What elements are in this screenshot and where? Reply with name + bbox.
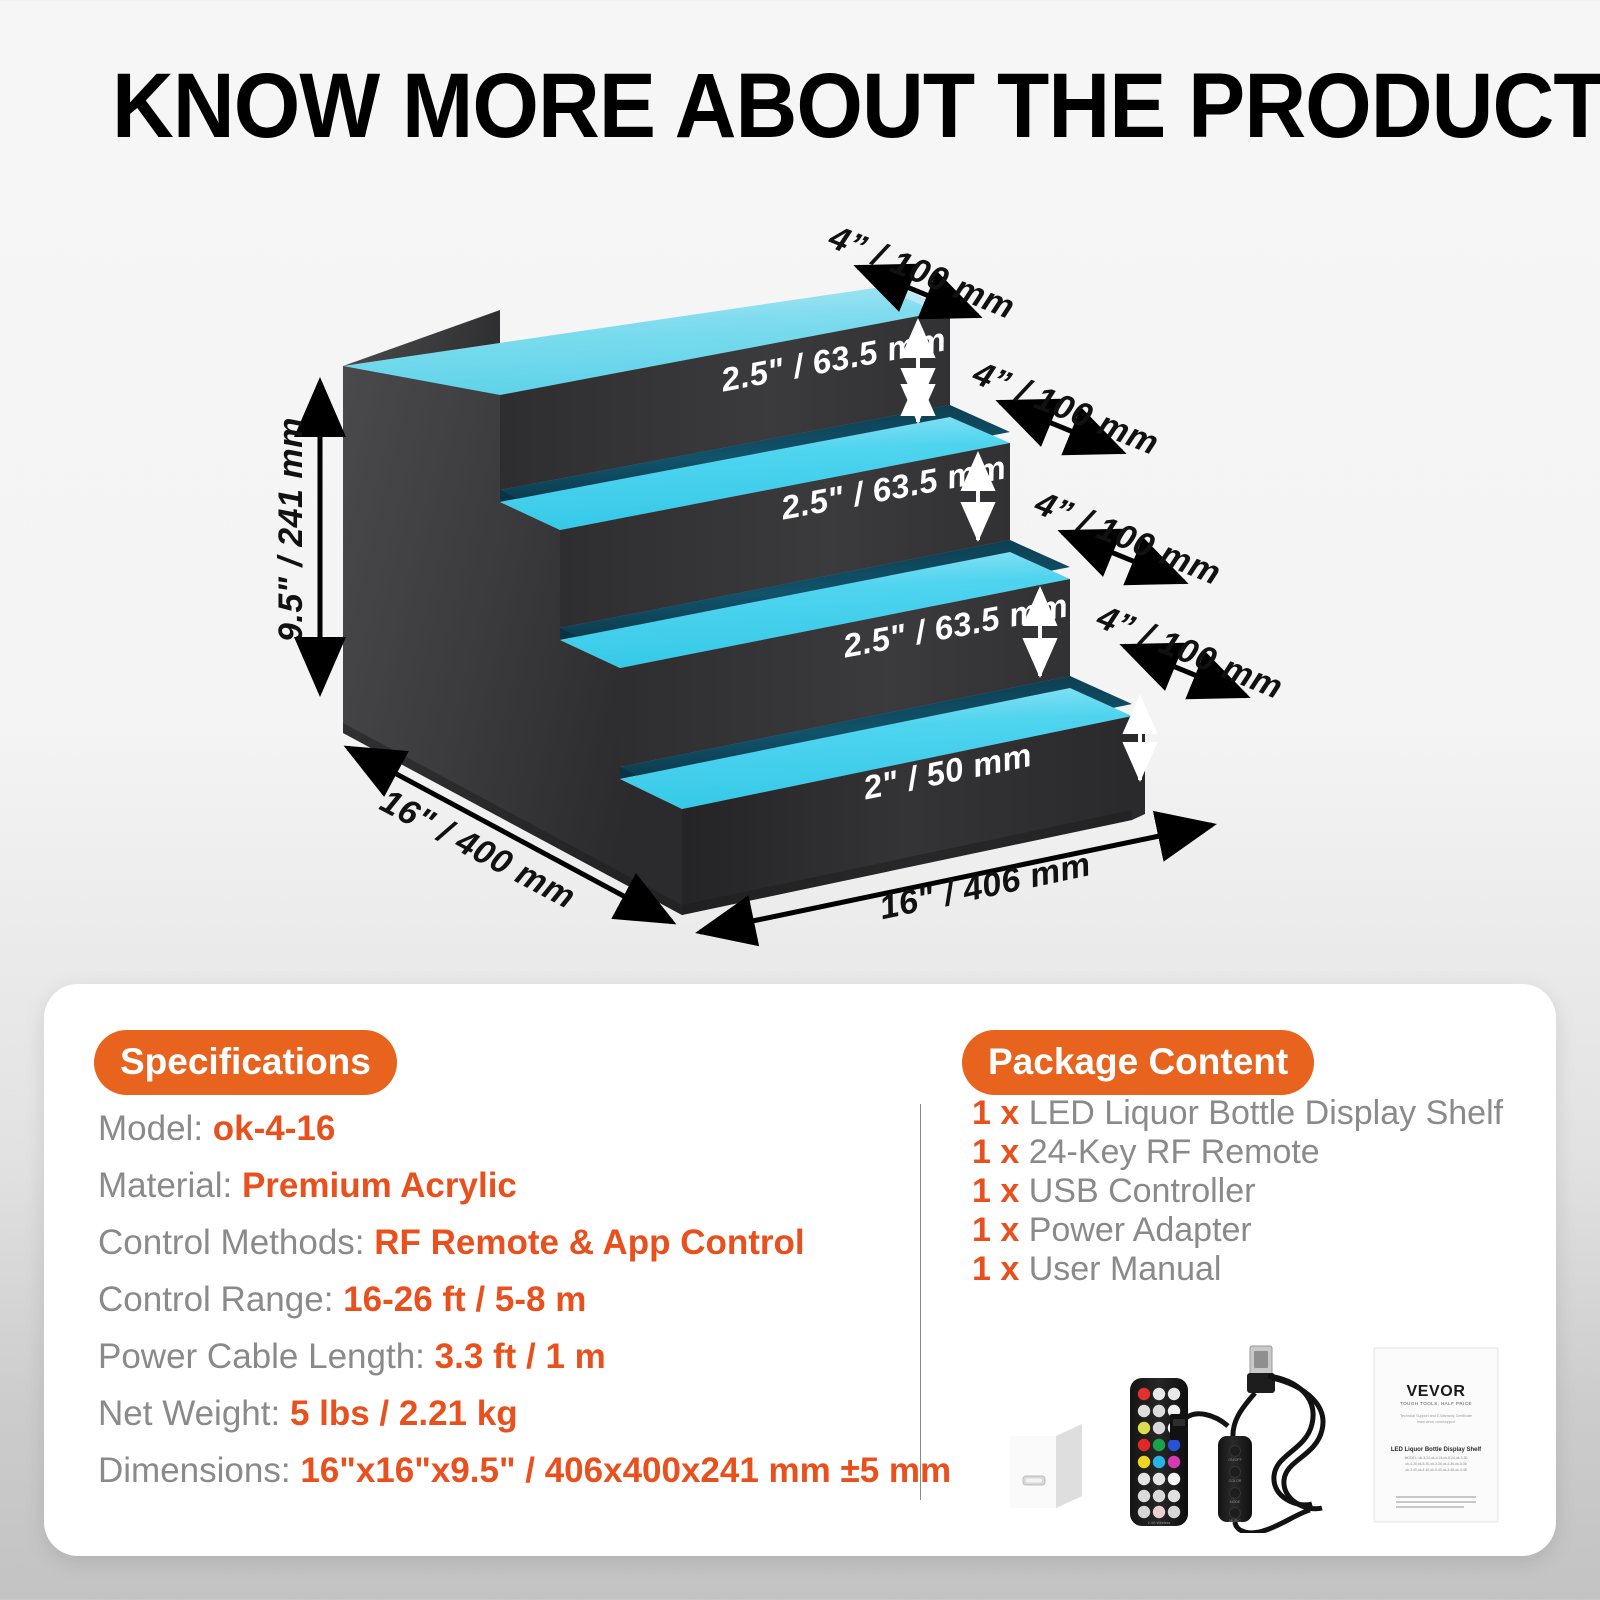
package-content-pill: Package Content [962,1030,1314,1095]
column-divider [920,1104,921,1500]
spec-row-net-weight: Net Weight: 5 lbs / 2.21 kg [98,1385,898,1442]
package-qty: 1 x [972,1250,1019,1288]
dimension-total-height: 9.5" / 241 mm [272,417,311,642]
svg-text:ON/OFF: ON/OFF [1228,1458,1242,1462]
svg-text:LED Liquor Bottle Display Shel: LED Liquor Bottle Display Shelf [1391,1447,1482,1453]
list-item: 1 x USB Controller [972,1172,1512,1211]
svg-text:2.4G Wireless: 2.4G Wireless [1148,1521,1171,1525]
spec-value-model: ok-4-16 [213,1109,336,1148]
package-name: User Manual [1029,1250,1222,1288]
product-dimension-diagram: 4” / 100 mm 4” / 100 mm 4” / 100 mm 4” /… [0,170,1600,960]
package-content-images: 2.4G Wireless ON/OFF COLOR MODE MUSIC [950,1318,1530,1533]
spec-value-control-methods: RF Remote & App Control [374,1223,804,1262]
specifications-pill: Specifications [94,1030,397,1095]
user-manual-image: VEVOR TOUGH TOOLS, HALF PRICE Technical … [1374,1348,1498,1522]
spec-value-dimensions: 16"x16"x9.5" / 406x400x241 mm ±5 mm [300,1451,951,1490]
spec-label-dimensions: Dimensions: [98,1451,291,1490]
spec-label-power-cable-length: Power Cable Length: [98,1337,425,1376]
svg-text:Technical Support and E-Warran: Technical Support and E-Warranty Certifi… [1400,1414,1472,1418]
package-name: Power Adapter [1029,1211,1252,1249]
spec-value-material: Premium Acrylic [242,1166,517,1205]
spec-row-control-methods: Control Methods: RF Remote & App Control [98,1214,898,1271]
package-content-list: 1 x LED Liquor Bottle Display Shelf 1 x … [972,1094,1512,1289]
svg-text:ok-3-40,ok-4-40,ok-5-40,ok-3-4: ok-3-40,ok-4-40,ok-5-40,ok-3-48,ok-4-48 [1405,1468,1466,1472]
package-qty: 1 x [972,1133,1019,1171]
spec-row-model: Model: ok-4-16 [98,1100,898,1157]
rf-remote-image: 2.4G Wireless [1130,1378,1188,1526]
svg-text:COLOR: COLOR [1229,1479,1242,1483]
usb-controller-image: ON/OFF COLOR MODE MUSIC [1170,1346,1323,1533]
power-adapter-image [1010,1424,1082,1508]
list-item: 1 x LED Liquor Bottle Display Shelf [972,1094,1512,1133]
svg-text:MODE: MODE [1230,1500,1241,1504]
package-name: LED Liquor Bottle Display Shelf [1029,1094,1503,1132]
spec-row-power-cable-length: Power Cable Length: 3.3 ft / 1 m [98,1328,898,1385]
package-qty: 1 x [972,1094,1019,1132]
spec-value-net-weight: 5 lbs / 2.21 kg [290,1394,518,1433]
spec-row-material: Material: Premium Acrylic [98,1157,898,1214]
svg-text:VEVOR: VEVOR [1406,1383,1465,1400]
spec-label-model: Model: [98,1109,203,1148]
spec-label-control-methods: Control Methods: [98,1223,365,1262]
spec-value-control-range: 16-26 ft / 5-8 m [343,1280,586,1319]
page-title: KNOW MORE ABOUT THE PRODUCT [112,58,1414,154]
svg-text:TOUGH TOOLS, HALF PRICE: TOUGH TOOLS, HALF PRICE [1400,1401,1472,1406]
svg-text:ok-4-30,ok-5-30,ok-3-36,ok-4-3: ok-4-30,ok-5-30,ok-3-36,ok-4-36,ok-5-36 [1405,1462,1466,1466]
specifications-list: Model: ok-4-16 Material: Premium Acrylic… [98,1100,898,1499]
package-name: USB Controller [1029,1172,1256,1210]
spec-row-control-range: Control Range: 16-26 ft / 5-8 m [98,1271,898,1328]
spec-label-material: Material: [98,1166,232,1205]
package-name: 24-Key RF Remote [1029,1133,1320,1171]
svg-text:MODEL: ok-3-24,ok-4-24,ok-5-24: MODEL: ok-3-24,ok-4-24,ok-5-24,ok-3-30 [1405,1456,1468,1460]
spec-value-power-cable-length: 3.3 ft / 1 m [435,1337,606,1376]
spec-row-dimensions: Dimensions: 16"x16"x9.5" / 406x400x241 m… [98,1442,898,1499]
list-item: 1 x 24-Key RF Remote [972,1133,1512,1172]
spec-label-net-weight: Net Weight: [98,1394,280,1433]
spec-label-control-range: Control Range: [98,1280,333,1319]
list-item: 1 x Power Adapter [972,1211,1512,1250]
package-qty: 1 x [972,1211,1019,1249]
list-item: 1 x User Manual [972,1250,1512,1289]
svg-text:www.vevor.com/support: www.vevor.com/support [1417,1420,1455,1424]
package-qty: 1 x [972,1172,1019,1210]
